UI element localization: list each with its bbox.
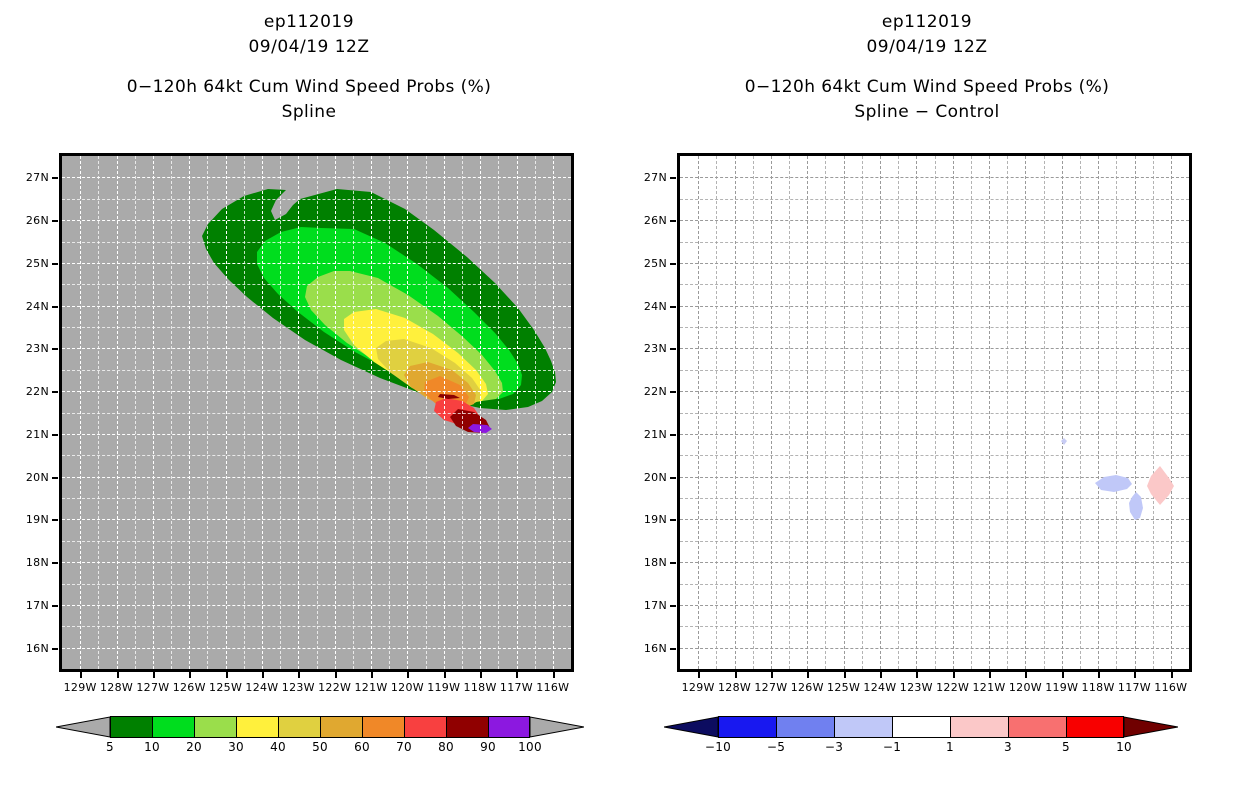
panel-left-titleblock: ep112019 09/04/19 12Z 0−120h 64kt Cum Wi… — [0, 10, 618, 124]
y-axis-tick-label: 19N — [0, 514, 49, 525]
colorbar-tick-label: 60 — [339, 740, 385, 754]
colorbar-tick-label: 70 — [381, 740, 427, 754]
x-axis-tick-mark — [916, 672, 918, 678]
colorbar-swatch — [1008, 716, 1066, 738]
y-axis-tick-label: 27N — [615, 172, 667, 183]
colorbar-swatch — [110, 716, 152, 738]
chart-subtitle-left: Spline — [0, 100, 618, 124]
colorbar-right-low-arrow — [664, 716, 718, 738]
y-axis-tick-mark — [670, 605, 676, 607]
y-axis-tick-mark — [670, 263, 676, 265]
chart-title-left: 0−120h 64kt Cum Wind Speed Probs (%) — [0, 74, 618, 100]
y-axis-tick-mark — [52, 605, 58, 607]
y-axis-tick-mark — [52, 562, 58, 564]
colorbar-tick-label: −10 — [695, 740, 741, 754]
diff-blob-negative-3 — [1129, 492, 1143, 520]
y-axis-tick-label: 18N — [615, 557, 667, 568]
x-axis-tick-mark — [1098, 672, 1100, 678]
x-axis-tick-mark — [480, 672, 482, 678]
x-axis-tick-mark — [298, 672, 300, 678]
x-axis-tick-mark — [189, 672, 191, 678]
y-axis-tick-label: 16N — [0, 643, 49, 654]
colorbar-tick-label: 5 — [1043, 740, 1089, 754]
y-axis-tick-mark — [52, 434, 58, 436]
y-axis-tick-mark — [670, 348, 676, 350]
colorbar-left-swatches — [110, 716, 530, 738]
colorbar-tick-label: 5 — [87, 740, 133, 754]
colorbar-swatch — [236, 716, 278, 738]
colorbar-swatch — [834, 716, 892, 738]
chart-title-right: 0−120h 64kt Cum Wind Speed Probs (%) — [618, 74, 1236, 100]
difference-contours — [680, 156, 1189, 669]
colorbar-tick-label: 30 — [213, 740, 259, 754]
colorbar-tick-label: 1 — [927, 740, 973, 754]
y-axis-tick-mark — [670, 562, 676, 564]
x-axis-tick-mark — [262, 672, 264, 678]
y-axis-tick-label: 27N — [0, 172, 49, 183]
x-axis-tick-label: 116W — [1141, 682, 1201, 693]
valid-time-left: 09/04/19 12Z — [0, 35, 618, 60]
colorbar-right-labels: −10−5−3−113510 — [618, 740, 1236, 756]
colorbar-right-high-arrow — [1124, 716, 1178, 738]
colorbar-tick-label: 10 — [129, 740, 175, 754]
x-axis-tick-label: 116W — [523, 682, 583, 693]
x-axis-tick-mark — [407, 672, 409, 678]
y-axis-tick-label: 22N — [615, 386, 667, 397]
colorbar-left-labels: 5102030405060708090100 — [0, 740, 618, 756]
y-axis-tick-label: 18N — [0, 557, 49, 568]
y-axis-tick-mark — [52, 477, 58, 479]
colorbar-swatch — [362, 716, 404, 738]
colorbar-swatch — [194, 716, 236, 738]
x-axis-tick-mark — [1171, 672, 1173, 678]
colorbar-swatch — [278, 716, 320, 738]
colorbar-swatch — [776, 716, 834, 738]
y-axis-tick-mark — [670, 477, 676, 479]
y-axis-tick-label: 22N — [0, 386, 49, 397]
y-axis-tick-mark — [52, 348, 58, 350]
y-axis-tick-mark — [52, 306, 58, 308]
colorbar-tick-label: −3 — [811, 740, 857, 754]
y-axis-tick-label: 20N — [615, 472, 667, 483]
y-axis-tick-mark — [52, 177, 58, 179]
colorbar-tick-label: 10 — [1101, 740, 1147, 754]
storm-id-right: ep112019 — [618, 10, 1236, 35]
colorbar-left: 5102030405060708090100 — [0, 716, 618, 786]
y-axis-tick-label: 25N — [0, 258, 49, 269]
x-axis-tick-mark — [371, 672, 373, 678]
y-axis-tick-mark — [670, 391, 676, 393]
y-axis-tick-label: 20N — [0, 472, 49, 483]
y-axis-tick-label: 21N — [0, 429, 49, 440]
x-axis-tick-mark — [953, 672, 955, 678]
y-axis-tick-mark — [52, 220, 58, 222]
y-axis-tick-label: 21N — [615, 429, 667, 440]
x-axis-tick-mark — [516, 672, 518, 678]
y-axis-tick-label: 26N — [0, 215, 49, 226]
colorbar-tick-label: −5 — [753, 740, 799, 754]
colorbar-tick-label: 50 — [297, 740, 343, 754]
x-axis-tick-mark — [226, 672, 228, 678]
y-axis-tick-label: 24N — [615, 301, 667, 312]
x-axis-tick-mark — [117, 672, 119, 678]
y-axis-tick-mark — [670, 434, 676, 436]
difference-layer-right — [680, 156, 1189, 669]
colorbar-swatch — [1066, 716, 1124, 738]
y-axis-tick-label: 19N — [615, 514, 667, 525]
panel-right: ep112019 09/04/19 12Z 0−120h 64kt Cum Wi… — [618, 0, 1236, 800]
y-axis-tick-label: 25N — [615, 258, 667, 269]
chart-subtitle-right: Spline − Control — [618, 100, 1236, 124]
colorbar-swatch — [152, 716, 194, 738]
contour-layer-left — [62, 156, 571, 669]
probability-contours — [62, 156, 571, 669]
x-axis-tick-mark — [807, 672, 809, 678]
x-axis-tick-mark — [844, 672, 846, 678]
x-axis-tick-mark — [335, 672, 337, 678]
colorbar-tick-label: 90 — [465, 740, 511, 754]
y-axis-tick-mark — [52, 519, 58, 521]
y-axis-tick-mark — [52, 263, 58, 265]
x-axis-tick-mark — [771, 672, 773, 678]
colorbar-swatch — [950, 716, 1008, 738]
x-axis-tick-mark — [989, 672, 991, 678]
colorbar-left-low-arrow — [56, 716, 110, 738]
colorbar-tick-label: −1 — [869, 740, 915, 754]
colorbar-right-swatches — [718, 716, 1124, 738]
colorbar-tick-label: 40 — [255, 740, 301, 754]
colorbar-swatch — [320, 716, 362, 738]
valid-time-right: 09/04/19 12Z — [618, 35, 1236, 60]
colorbar-swatch — [404, 716, 446, 738]
storm-id-left: ep112019 — [0, 10, 618, 35]
x-axis-tick-mark — [735, 672, 737, 678]
y-axis-tick-mark — [670, 519, 676, 521]
colorbar-tick-label: 80 — [423, 740, 469, 754]
x-axis-tick-mark — [80, 672, 82, 678]
colorbar-tick-label: 20 — [171, 740, 217, 754]
x-axis-tick-mark — [698, 672, 700, 678]
y-axis-tick-mark — [670, 306, 676, 308]
colorbar-right: −10−5−3−113510 — [618, 716, 1236, 786]
y-axis-tick-label: 17N — [0, 600, 49, 611]
y-axis-tick-mark — [670, 220, 676, 222]
y-axis-tick-label: 23N — [615, 343, 667, 354]
colorbar-tick-label: 3 — [985, 740, 1031, 754]
colorbar-swatch — [488, 716, 530, 738]
y-axis-tick-mark — [670, 177, 676, 179]
x-axis-tick-mark — [1025, 672, 1027, 678]
x-axis-tick-mark — [880, 672, 882, 678]
x-axis-tick-mark — [1062, 672, 1064, 678]
diff-blob-positive-1 — [1147, 466, 1174, 505]
panel-right-titleblock: ep112019 09/04/19 12Z 0−120h 64kt Cum Wi… — [618, 10, 1236, 124]
panel-left: ep112019 09/04/19 12Z 0−120h 64kt Cum Wi… — [0, 0, 618, 800]
x-axis-tick-mark — [444, 672, 446, 678]
colorbar-swatch — [892, 716, 950, 738]
y-axis-tick-label: 17N — [615, 600, 667, 611]
x-axis-tick-mark — [1134, 672, 1136, 678]
colorbar-tick-label: 100 — [507, 740, 553, 754]
x-axis-tick-mark — [553, 672, 555, 678]
map-plot-right — [677, 153, 1192, 672]
y-axis-tick-mark — [52, 391, 58, 393]
y-axis-tick-label: 26N — [615, 215, 667, 226]
colorbar-swatch — [446, 716, 488, 738]
y-axis-tick-label: 23N — [0, 343, 49, 354]
diff-blob-negative-1 — [1061, 438, 1067, 445]
y-axis-tick-mark — [670, 648, 676, 650]
y-axis-tick-label: 16N — [615, 643, 667, 654]
y-axis-tick-mark — [52, 648, 58, 650]
map-plot-left — [59, 153, 574, 672]
colorbar-left-high-arrow — [530, 716, 584, 738]
y-axis-tick-label: 24N — [0, 301, 49, 312]
diff-blob-negative-2 — [1095, 475, 1132, 492]
colorbar-swatch — [718, 716, 776, 738]
x-axis-tick-mark — [153, 672, 155, 678]
